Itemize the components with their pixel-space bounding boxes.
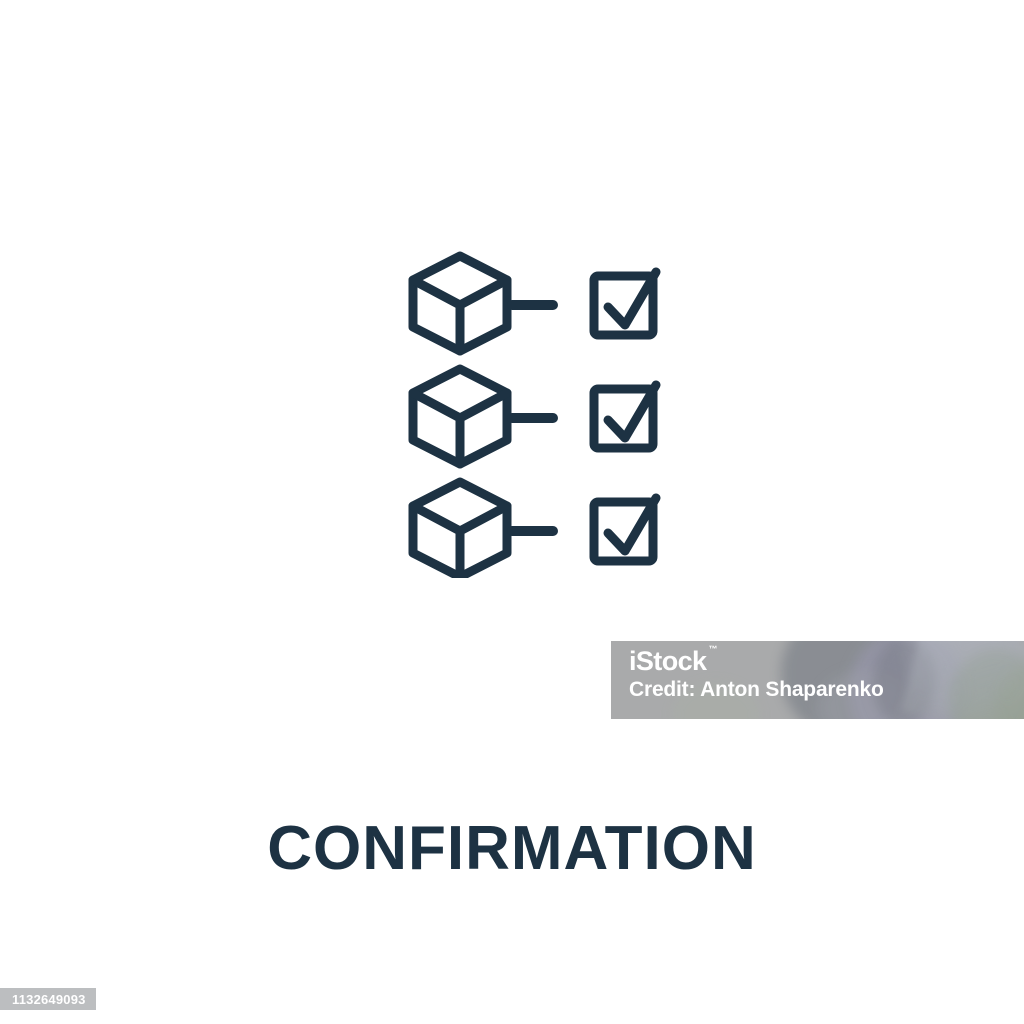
image-canvas: CONFIRMATION iStock™ Credit: Anton Shapa… [0, 0, 1024, 1024]
confirmation-row [413, 482, 656, 577]
confirmation-icon-svg [355, 248, 675, 578]
watermark-credit: Credit: Anton Shaparenko [629, 678, 884, 701]
package-cube-icon [413, 482, 507, 577]
istock-watermark: iStock™ Credit: Anton Shaparenko [611, 641, 1024, 719]
confirmation-row [413, 256, 656, 351]
istock-logo-text: iStock [629, 646, 706, 676]
package-cube-icon [413, 256, 507, 351]
checked-checkbox-icon [594, 272, 656, 335]
checked-checkbox-icon [594, 385, 656, 448]
asset-id-badge: 1132649093 [0, 988, 96, 1010]
confirmation-icon-artwork [355, 248, 675, 578]
trademark-icon: ™ [708, 645, 717, 654]
istock-logo: iStock™ [629, 647, 706, 675]
package-cube-icon [413, 369, 507, 464]
icon-title: CONFIRMATION [0, 818, 1024, 880]
checked-checkbox-icon [594, 498, 656, 561]
watermark-text-block: iStock™ Credit: Anton Shaparenko [629, 647, 884, 701]
watermark-wedge [901, 641, 1024, 719]
confirmation-row [413, 369, 656, 464]
